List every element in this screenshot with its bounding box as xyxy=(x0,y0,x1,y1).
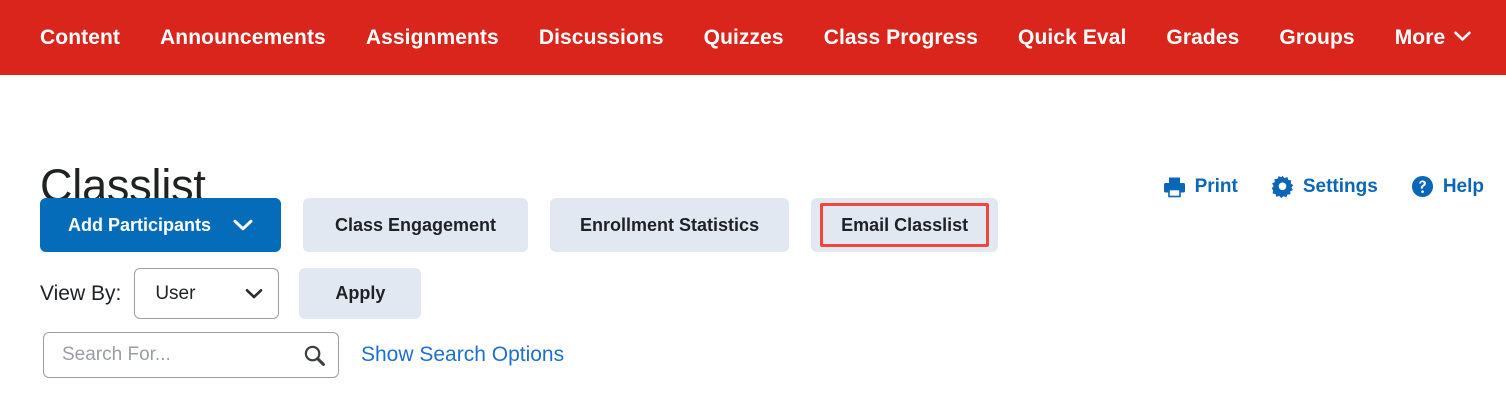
nav-item-assignments[interactable]: Assignments xyxy=(366,27,499,48)
class-engagement-button[interactable]: Class Engagement xyxy=(303,198,528,252)
nav-item-label: Quick Eval xyxy=(1018,27,1126,48)
nav-item-label: Assignments xyxy=(366,27,499,48)
search-button[interactable] xyxy=(303,344,326,367)
nav-item-quick-eval[interactable]: Quick Eval xyxy=(1018,27,1126,48)
enrollment-statistics-button[interactable]: Enrollment Statistics xyxy=(550,198,789,252)
nav-item-class-progress[interactable]: Class Progress xyxy=(824,27,978,48)
nav-item-more[interactable]: More xyxy=(1395,27,1472,48)
nav-item-content[interactable]: Content xyxy=(40,27,120,48)
view-by-select[interactable]: User xyxy=(134,268,279,319)
chevron-down-icon xyxy=(233,219,253,232)
nav-item-label: Groups xyxy=(1279,27,1354,48)
header-action-links: Print Settings Help xyxy=(1163,175,1484,198)
print-button[interactable]: Print xyxy=(1163,176,1238,198)
apply-label: Apply xyxy=(335,283,385,303)
view-by-selected-value: User xyxy=(155,283,195,305)
nav-item-quizzes[interactable]: Quizzes xyxy=(704,27,784,48)
nav-item-announcements[interactable]: Announcements xyxy=(160,27,326,48)
nav-item-label: Discussions xyxy=(539,27,664,48)
classlist-toolbar: Add Participants Class Engagement Enroll… xyxy=(40,198,998,252)
add-participants-label: Add Participants xyxy=(68,215,211,236)
add-participants-button[interactable]: Add Participants xyxy=(40,198,281,252)
view-by-label: View By: xyxy=(40,282,121,306)
nav-item-grades[interactable]: Grades xyxy=(1166,27,1239,48)
email-classlist-button[interactable]: Email Classlist xyxy=(811,198,998,252)
show-search-options-link[interactable]: Show Search Options xyxy=(361,343,564,367)
class-engagement-label: Class Engagement xyxy=(335,215,496,236)
nav-item-discussions[interactable]: Discussions xyxy=(539,27,664,48)
nav-item-groups[interactable]: Groups xyxy=(1279,27,1354,48)
help-label: Help xyxy=(1443,177,1484,196)
nav-item-label: More xyxy=(1395,27,1446,48)
printer-icon xyxy=(1163,176,1186,198)
nav-item-label: Announcements xyxy=(160,27,326,48)
print-label: Print xyxy=(1195,177,1238,196)
view-by-row: View By: User Apply xyxy=(40,268,421,319)
nav-item-label: Grades xyxy=(1166,27,1239,48)
primary-navigation-bar: Content Announcements Assignments Discus… xyxy=(0,0,1506,75)
settings-button[interactable]: Settings xyxy=(1271,175,1378,198)
page-header: Classlist Print Settings xyxy=(0,75,1506,148)
settings-label: Settings xyxy=(1303,177,1378,196)
nav-item-label: Content xyxy=(40,27,120,48)
gear-icon xyxy=(1271,175,1294,198)
nav-item-label: Quizzes xyxy=(704,27,784,48)
chevron-down-icon xyxy=(1454,31,1471,42)
nav-item-label: Class Progress xyxy=(824,27,978,48)
chevron-down-icon xyxy=(245,288,263,300)
search-box[interactable] xyxy=(43,332,339,378)
search-icon xyxy=(303,344,326,367)
search-row: Show Search Options xyxy=(43,332,564,378)
search-input[interactable] xyxy=(60,343,303,367)
apply-button[interactable]: Apply xyxy=(299,268,421,319)
email-classlist-label: Email Classlist xyxy=(841,215,968,236)
help-button[interactable]: Help xyxy=(1411,175,1484,198)
enrollment-statistics-label: Enrollment Statistics xyxy=(580,215,759,236)
help-circle-icon xyxy=(1411,175,1434,198)
